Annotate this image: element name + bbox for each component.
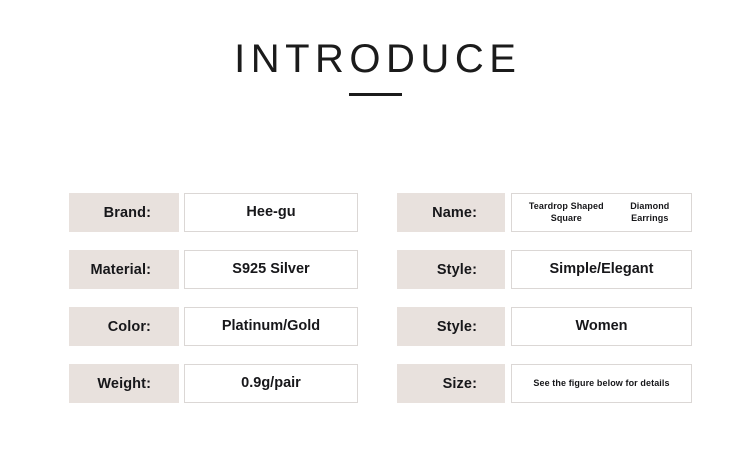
spec-label-weight: Weight: [69,364,179,403]
spec-value-color: Platinum/Gold [184,307,358,346]
spec-label-style: Style: [397,250,505,289]
spec-label-color: Color: [69,307,179,346]
introduce-spec-page: INTRODUCE Brand: Hee-gu Material: S925 S… [0,0,750,449]
spec-row-style: Style: Simple/Elegant [397,250,692,289]
title-underline-rule [349,93,402,96]
spec-value-name-line2: Diamond Earrings [615,201,685,225]
spec-row-size: Size: See the figure below for details [397,364,692,403]
spec-row-color: Color: Platinum/Gold [69,307,358,346]
spec-row-brand: Brand: Hee-gu [69,193,358,232]
spec-column-right: Name: Teardrop Shaped Square Diamond Ear… [397,193,692,403]
spec-row-audience: Style: Women [397,307,692,346]
spec-column-left: Brand: Hee-gu Material: S925 Silver Colo… [69,193,358,403]
spec-value-size: See the figure below for details [511,364,692,403]
spec-label-material: Material: [69,250,179,289]
spec-value-style: Simple/Elegant [511,250,692,289]
spec-value-weight: 0.9g/pair [184,364,358,403]
spec-label-brand: Brand: [69,193,179,232]
page-header: INTRODUCE [0,0,750,96]
spec-label-audience: Style: [397,307,505,346]
spec-value-material: S925 Silver [184,250,358,289]
spec-value-name: Teardrop Shaped Square Diamond Earrings [511,193,692,232]
spec-row-material: Material: S925 Silver [69,250,358,289]
spec-row-weight: Weight: 0.9g/pair [69,364,358,403]
spec-value-brand: Hee-gu [184,193,358,232]
spec-value-audience: Women [511,307,692,346]
page-title: INTRODUCE [0,0,750,81]
spec-row-name: Name: Teardrop Shaped Square Diamond Ear… [397,193,692,232]
spec-value-name-line1: Teardrop Shaped Square [518,201,615,225]
spec-label-size: Size: [397,364,505,403]
spec-label-name: Name: [397,193,505,232]
